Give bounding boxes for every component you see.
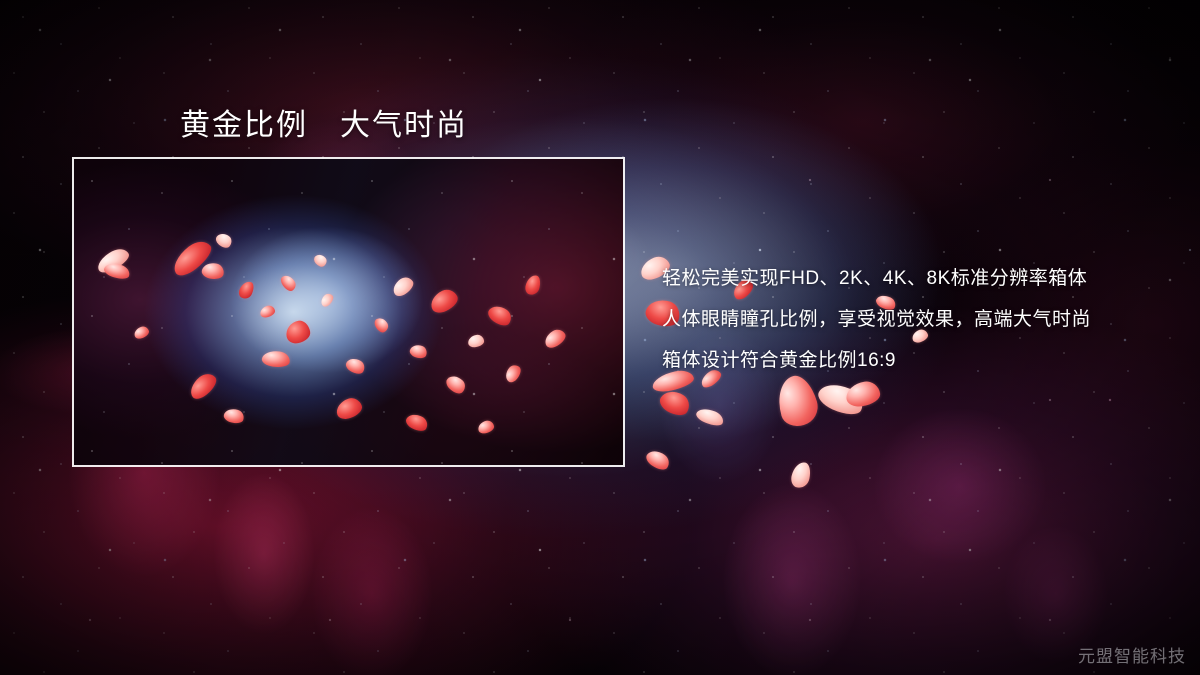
body-line-3: 箱体设计符合黄金比例16:9 [662,340,1182,381]
body-line-2: 人体眼睛瞳孔比例，享受视觉效果，高端大气时尚 [662,299,1182,340]
petal [644,447,673,474]
framed-galaxy-image [72,157,625,467]
photo-starfield [74,159,623,465]
presentation-slide: 黄金比例 大气时尚 [0,0,1200,675]
petal [844,380,881,408]
petal [694,405,725,428]
body-line-1: 轻松完美实现FHD、2K、4K、8K标准分辨率箱体 [662,258,1182,299]
body-text-block: 轻松完美实现FHD、2K、4K、8K标准分辨率箱体 人体眼睛瞳孔比例，享受视觉效… [662,258,1182,381]
petal [789,460,812,489]
page-title: 黄金比例 大气时尚 [180,100,468,144]
watermark-logo-text: 元盟智能科技 [1078,642,1186,667]
